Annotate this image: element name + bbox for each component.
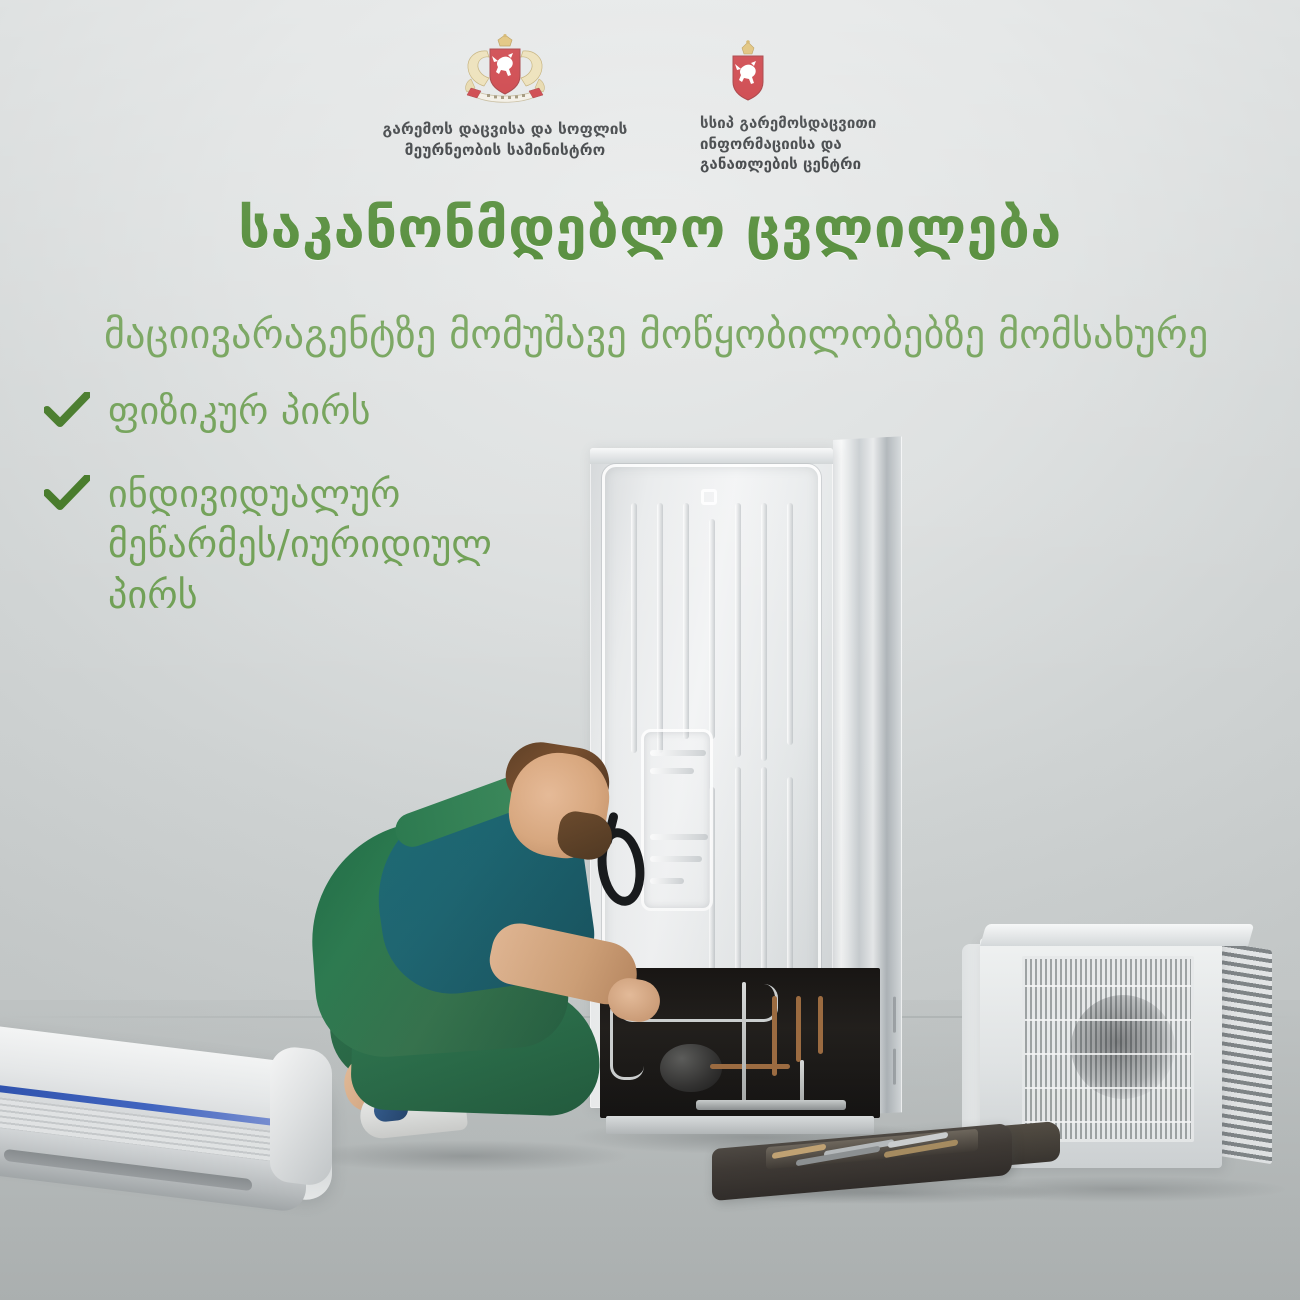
center-logo-block: სსიპ გარემოსდაცვითი ინფორმაციისა და განა…	[700, 34, 930, 175]
bullet-label: ფიზიკურ პირს	[108, 386, 371, 437]
page-subtitle: მაციივარაგენტზე მომუშავე მოწყობილობებზე …	[104, 312, 1208, 358]
refrigerator-top-edge	[590, 448, 833, 464]
georgia-coat-of-arms-icon	[451, 34, 559, 112]
page-title: საკანონმდებლო ცვლილება	[0, 196, 1300, 261]
ac-outdoor-side-louvers	[1218, 942, 1272, 1165]
list-item: ფიზიკურ პირს	[44, 386, 538, 437]
ministry-logo-caption: გარემოს დაცვისა და სოფლის მეურნეობის სამ…	[370, 119, 640, 162]
ac-outdoor-top-cover	[980, 924, 1254, 946]
check-icon	[44, 392, 90, 432]
list-item: ინდივიდუალურ მეწარმეს/იურიდიულ პირს	[44, 469, 538, 621]
open-toolbox	[712, 1118, 1060, 1198]
poster-canvas: გარემოს დაცვისა და სოფლის მეურნეობის სამ…	[0, 0, 1300, 1300]
technician-figure	[300, 735, 700, 1190]
ac-indoor-end-cap	[270, 1044, 332, 1188]
ministry-logo-block: გარემოს დაცვისა და სოფლის მეურნეობის სამ…	[370, 34, 640, 162]
ac-outdoor-fan-shadow	[1071, 995, 1175, 1099]
bullet-list: ფიზიკურ პირს ინდივიდუალურ მეწარმეს/იურიდ…	[44, 386, 538, 652]
split-ac-indoor-unit	[0, 1046, 332, 1222]
center-logo-caption: სსიპ გარემოსდაცვითი ინფორმაციისა და განა…	[700, 113, 930, 175]
georgia-shield-crown-icon	[722, 38, 774, 106]
ac-outdoor-fan-grille	[1022, 956, 1194, 1142]
check-icon	[44, 475, 90, 515]
bullet-label: ინდივიდუალურ მეწარმეს/იურიდიულ პირს	[108, 469, 538, 621]
header-logos: გარემოს დაცვისა და სოფლის მეურნეობის სამ…	[0, 34, 1300, 175]
